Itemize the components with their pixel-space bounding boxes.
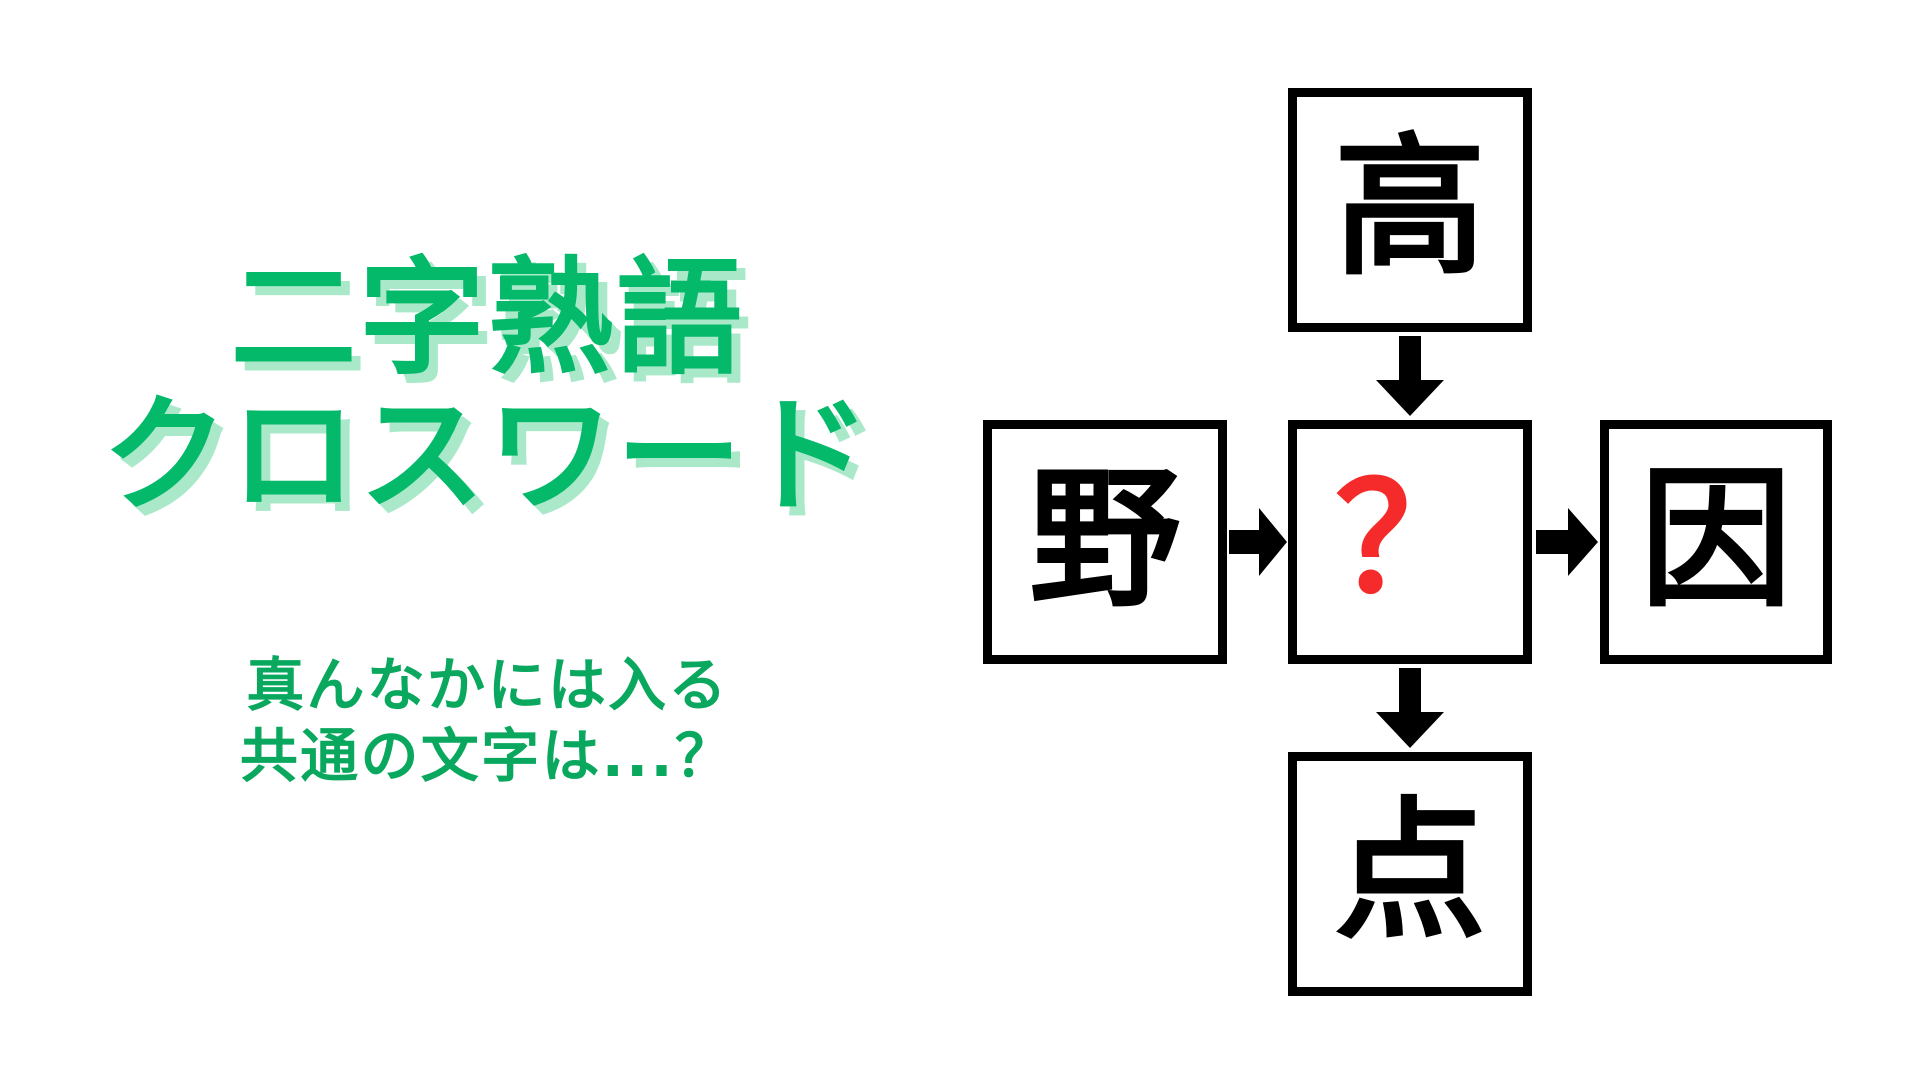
crossword-cell-top[interactable]: 高 — [1288, 88, 1532, 332]
crossword-answer-placeholder: ？ — [1335, 465, 1485, 615]
subtitle-line-1: 真んなかには入る — [0, 650, 975, 721]
crossword-cell-left[interactable]: 野 — [983, 420, 1227, 664]
crossword-cell-right-character: 因 — [1640, 464, 1792, 616]
subtitle-line-2: 共通の文字は...？ — [0, 721, 975, 792]
arrow-down-icon — [1374, 336, 1446, 416]
title-panel: 二字熟語 クロスワード 真んなかには入る 共通の文字は...？ — [0, 0, 975, 1080]
crossword-grid: 高 野 ？ 因 — [975, 0, 1920, 1080]
arrow-right-icon — [1229, 506, 1287, 578]
arrow-down-icon — [1374, 668, 1446, 748]
crossword-cell-center-answer[interactable]: ？ — [1288, 420, 1532, 664]
crossword-cell-top-character: 高 — [1334, 132, 1486, 284]
arrow-right-icon — [1536, 506, 1598, 578]
page-title: 二字熟語 クロスワード — [0, 255, 975, 520]
page-subtitle: 真んなかには入る 共通の文字は...？ — [0, 650, 975, 792]
crossword-cell-right[interactable]: 因 — [1600, 420, 1832, 664]
title-line-2: クロスワード — [0, 392, 975, 521]
title-line-1: 二字熟語 — [0, 255, 975, 384]
crossword-cell-left-character: 野 — [1029, 464, 1181, 616]
poster-canvas: 二字熟語 クロスワード 真んなかには入る 共通の文字は...？ 高 野 — [0, 0, 1920, 1080]
crossword-cell-bottom[interactable]: 点 — [1288, 752, 1532, 996]
crossword-cell-bottom-character: 点 — [1334, 796, 1486, 948]
